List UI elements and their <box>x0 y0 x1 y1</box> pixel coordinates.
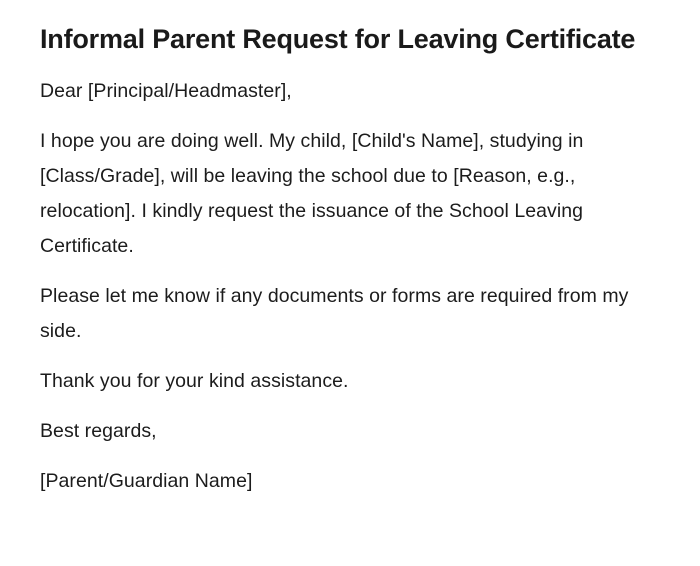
letter-salutation: Dear [Principal/Headmaster], <box>40 74 662 109</box>
letter-closing: Best regards, <box>40 414 662 449</box>
letter-paragraph-request: I hope you are doing well. My child, [Ch… <box>40 124 662 264</box>
letter-document: Informal Parent Request for Leaving Cert… <box>0 0 700 566</box>
letter-body: Dear [Principal/Headmaster], I hope you … <box>40 74 662 499</box>
page-title: Informal Parent Request for Leaving Cert… <box>40 22 662 56</box>
letter-paragraph-thanks: Thank you for your kind assistance. <box>40 364 662 399</box>
letter-signature-name: [Parent/Guardian Name] <box>40 464 662 499</box>
letter-paragraph-documents: Please let me know if any documents or f… <box>40 279 662 349</box>
